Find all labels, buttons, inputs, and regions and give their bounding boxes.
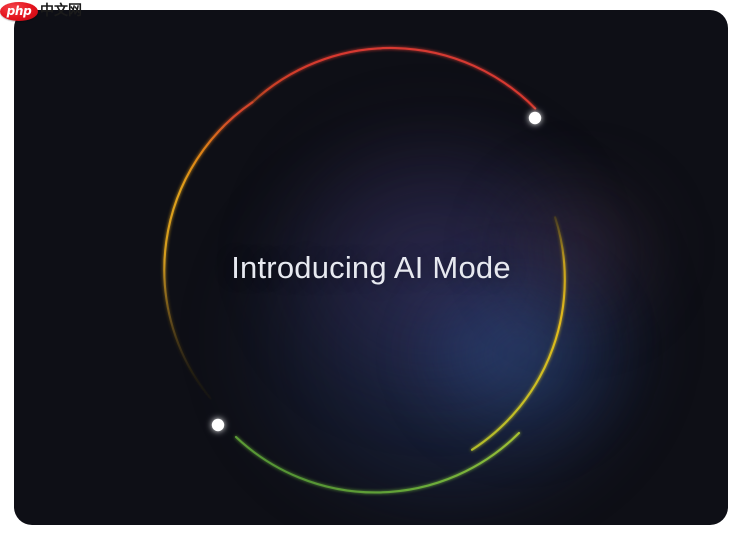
hero-panel: Introducing AI Mode: [14, 10, 728, 525]
hero-title: Introducing AI Mode: [14, 10, 728, 525]
